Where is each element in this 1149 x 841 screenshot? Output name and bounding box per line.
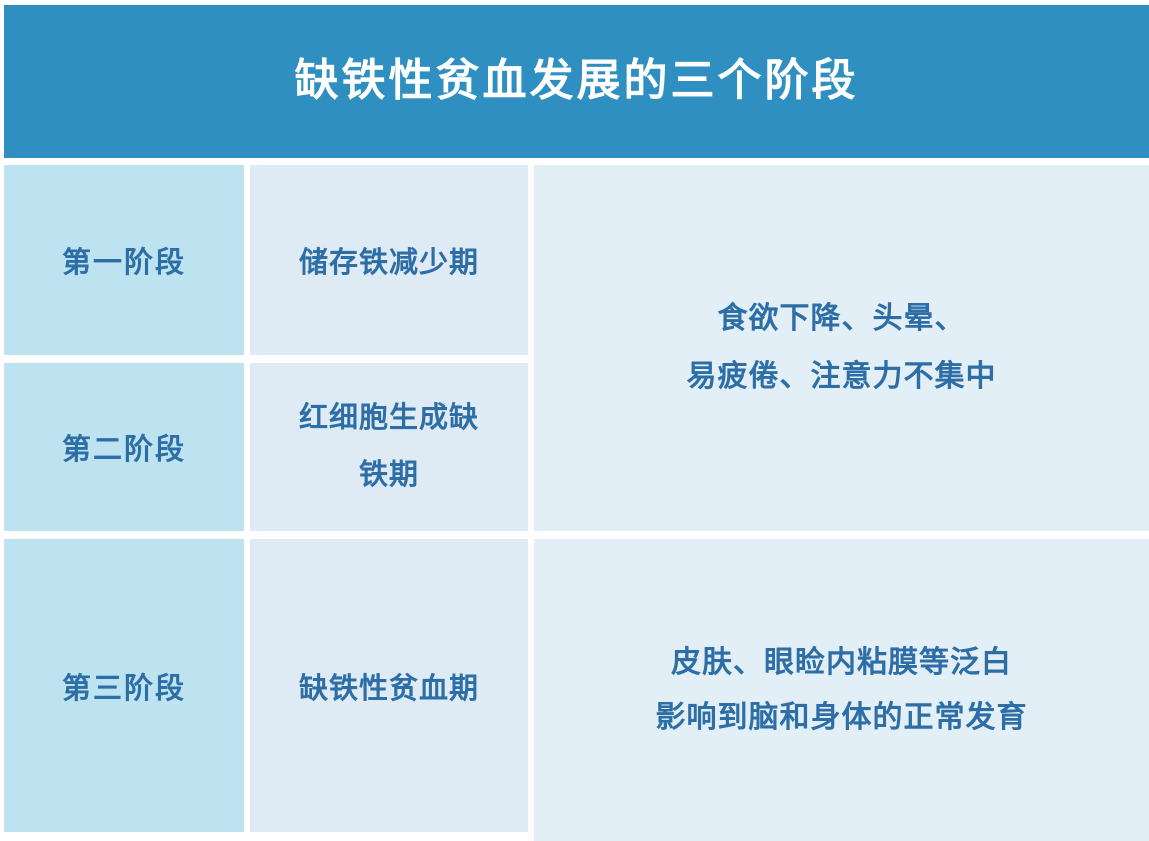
stage-label-1: 第一阶段 [62,239,186,281]
header-banner: 缺铁性贫血发展的三个阶段 [4,5,1149,158]
symptom-1-line-2: 易疲倦、注意力不集中 [687,348,997,407]
page-title: 缺铁性贫血发展的三个阶段 [295,55,859,108]
phase-name-cell-1: 储存铁减少期 [250,165,528,355]
stage-label-3: 第三阶段 [62,665,186,707]
stage-label-cell-2: 第二阶段 [4,363,244,531]
phase-name-2-line-2: 铁期 [299,447,479,504]
stage-table: 第一阶段 第二阶段 第三阶段 储存铁减少期 红细胞生成缺 铁期 缺铁性贫血期 食… [0,163,1149,841]
symptom-cell-stage-3: 皮肤、眼睑内粘膜等泛白 影响到脑和身体的正常发育 [534,539,1149,841]
iron-deficiency-anemia-infographic: 缺铁性贫血发展的三个阶段 第一阶段 第二阶段 第三阶段 储存铁减少期 红细胞生成… [0,0,1149,841]
stage-label-cell-1: 第一阶段 [4,165,244,355]
symptom-1-line-1: 食欲下降、头晕、 [687,290,997,349]
symptom-cell-stages-1-2: 食欲下降、头晕、 易疲倦、注意力不集中 [534,165,1149,531]
phase-name-1: 储存铁减少期 [299,239,479,281]
stage-label-cell-3: 第三阶段 [4,539,244,832]
symptom-2-line-1: 皮肤、眼睑内粘膜等泛白 [656,635,1028,691]
phase-name-cell-3: 缺铁性贫血期 [250,539,528,832]
phase-name-3: 缺铁性贫血期 [299,665,479,707]
stage-label-2: 第二阶段 [62,426,186,468]
phase-name-2-line-1: 红细胞生成缺 [299,390,479,447]
symptom-2-line-2: 影响到脑和身体的正常发育 [656,690,1028,746]
phase-name-cell-2: 红细胞生成缺 铁期 [250,363,528,531]
